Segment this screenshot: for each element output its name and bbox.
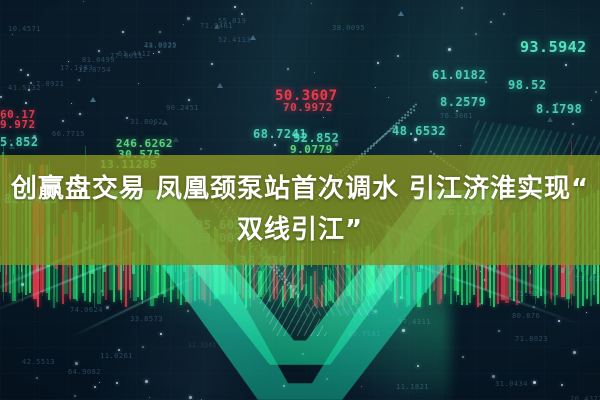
headline-line-2: 双线引江” — [237, 212, 363, 249]
candlestick-bar — [530, 270, 531, 274]
candlestick-bar — [511, 269, 514, 273]
headline-line-1: 创赢盘交易 凤凰颈泵站首次调水 引江济淮实现“ — [11, 171, 589, 208]
headline-container: 创赢盘交易 凤凰颈泵站首次调水 引江济淮实现“ 双线引江” — [0, 155, 600, 265]
banner-image: 93.594261.018298.528.25798.179850.360770… — [0, 0, 600, 400]
